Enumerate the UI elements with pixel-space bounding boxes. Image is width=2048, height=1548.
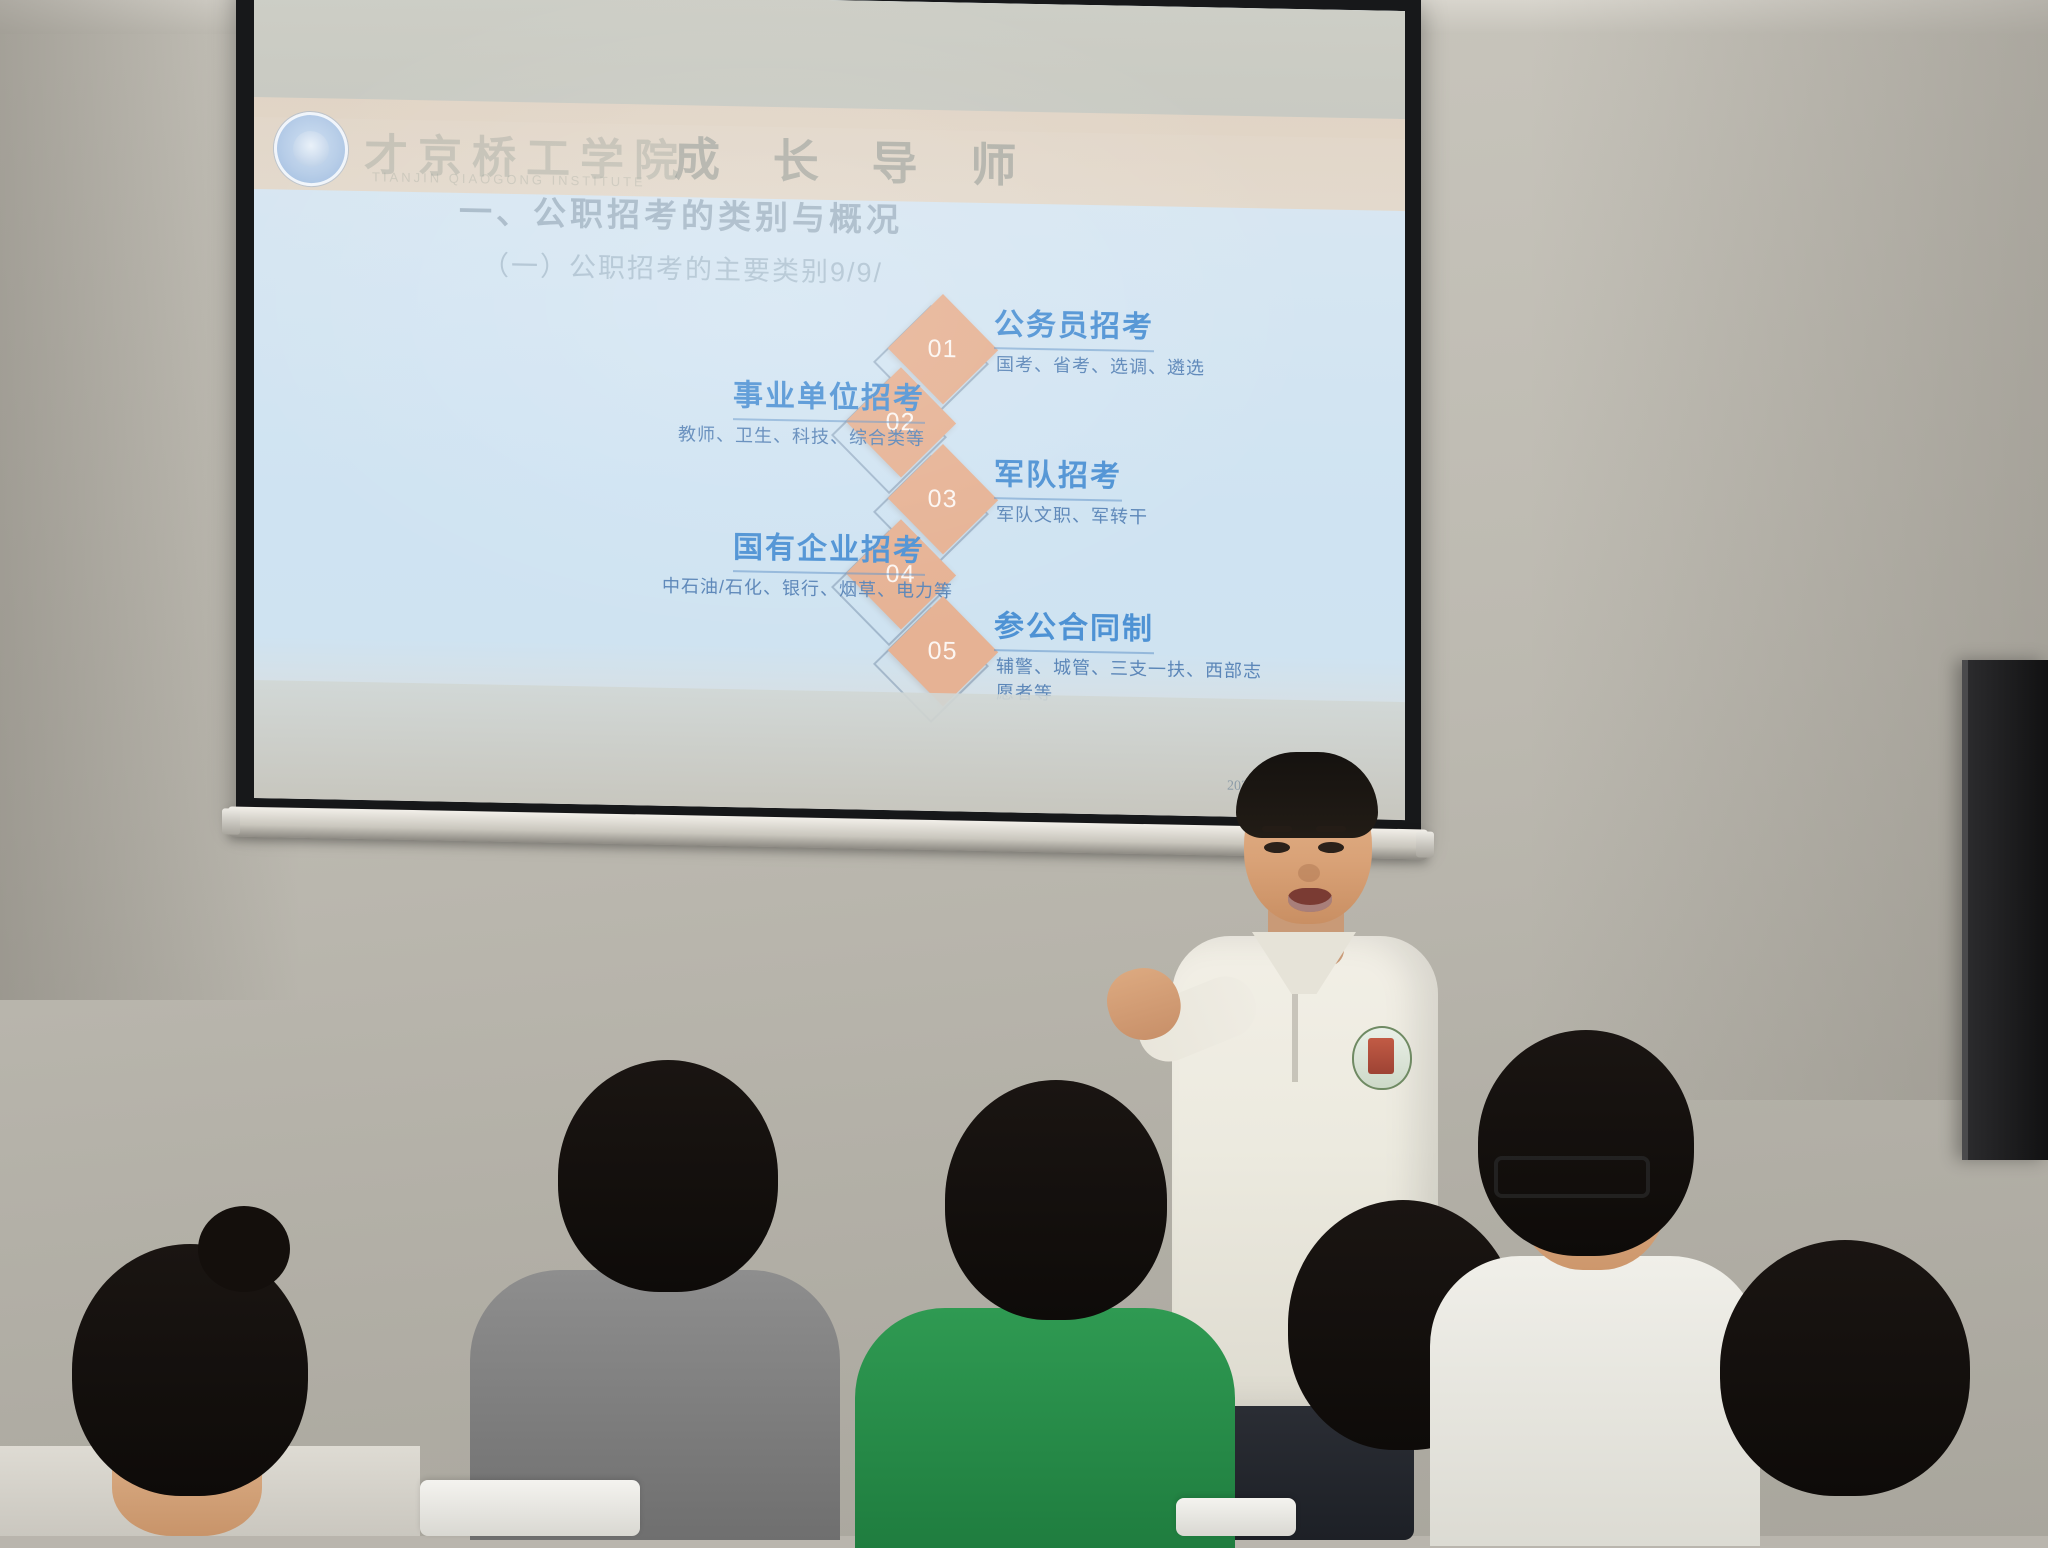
projection-screen-surface: 才京桥工学院 TIANJIN QIAOGONG INSTITUTE 成 长 导 … (254, 0, 1405, 820)
slide-subheading: （一）公职招考的主要类别9/9/ (482, 243, 883, 290)
student-5-glasses (1494, 1156, 1650, 1198)
presenter-mouth (1288, 888, 1332, 912)
student-6 (1680, 1240, 2000, 1536)
item-subtitle-04: 中石油/石化、银行、烟草、电力等 (662, 573, 953, 605)
presenter-eye-right (1318, 842, 1344, 853)
student-6-hair (1720, 1240, 1970, 1496)
student-1 (20, 1220, 350, 1536)
classroom-scene: 才京桥工学院 TIANJIN QIAOGONG INSTITUTE 成 长 导 … (0, 0, 2048, 1536)
student-3 (855, 1080, 1235, 1536)
item-subtitle-02: 教师、卫生、科技、综合类等 (678, 421, 925, 452)
university-seal-logo (274, 111, 348, 186)
item-title-01: 公务员招考 (994, 299, 1154, 352)
chair-back-1 (420, 1480, 640, 1536)
presenter-eyebrow-left (1262, 826, 1292, 832)
wall-mounted-tv (1962, 660, 2048, 1160)
chair-back-2 (1176, 1498, 1296, 1536)
item-title-02: 事业单位招考 (733, 370, 925, 424)
student-5-hair (1478, 1030, 1694, 1256)
item-subtitle-01: 国考、省考、选调、遴选 (996, 351, 1205, 381)
item-title-05: 参公合同制 (994, 601, 1154, 654)
student-2 (470, 1060, 840, 1536)
diamond-number-01: 01 (928, 334, 958, 364)
item-title-03: 军队招考 (994, 449, 1122, 501)
student-3-hair (945, 1080, 1167, 1320)
student-2-hair (558, 1060, 778, 1292)
diamond-number-03: 03 (928, 484, 958, 514)
presenter-eye-left (1264, 842, 1290, 853)
presenter-shirt-emblem (1352, 1026, 1412, 1090)
slide-heading: 一、公职招考的类别与概况 (459, 185, 903, 242)
presenter-hair (1236, 752, 1378, 838)
diamond-number-05: 05 (928, 636, 958, 666)
slide-body: 一、公职招考的类别与概况 （一）公职招考的主要类别9/9/ 01 公务员招考 国… (254, 189, 1405, 702)
item-subtitle-03: 军队文职、军转干 (996, 501, 1148, 530)
student-1-hair-bun (198, 1206, 290, 1292)
item-title-04: 国有企业招考 (733, 522, 925, 576)
banner-title: 成 长 导 师 (674, 123, 1036, 196)
presentation-slide: 才京桥工学院 TIANJIN QIAOGONG INSTITUTE 成 长 导 … (254, 0, 1405, 820)
presenter-eyebrow-right (1316, 826, 1346, 832)
roller-cap-left (222, 808, 240, 834)
presenter-nose (1298, 864, 1320, 882)
